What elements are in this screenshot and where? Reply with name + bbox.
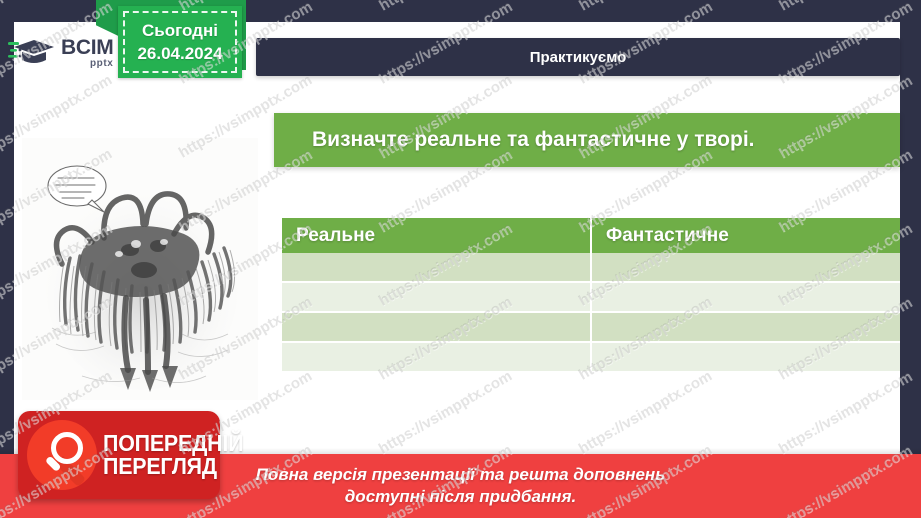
preview-badge-line-2: ПЕРЕГЛЯД: [103, 455, 243, 478]
task-prompt-bar: Визначте реальне та фантастичне у творі.: [274, 113, 900, 167]
brand-name: BCIM: [61, 37, 113, 58]
footer-line-1: Повна версія презентації та решта доповн…: [256, 464, 666, 486]
date-badge-label: Сьогодні: [142, 19, 218, 42]
date-badge: Сьогодні 26.04.2024: [118, 6, 242, 78]
table-row[interactable]: [282, 253, 900, 281]
footer-line-2: доступні після придбання.: [345, 486, 576, 508]
creature-sketch-svg: [22, 138, 258, 400]
table-cell[interactable]: [590, 283, 900, 311]
task-prompt-text: Визначте реальне та фантастичне у творі.: [274, 128, 755, 152]
table-cell[interactable]: [282, 343, 590, 371]
table-header-row: Реальне Фантастичне: [282, 218, 900, 253]
frame-edge-right: [900, 0, 921, 518]
table-row[interactable]: [282, 341, 900, 371]
table-cell[interactable]: [282, 313, 590, 341]
table-cell[interactable]: [282, 253, 590, 281]
preview-badge[interactable]: ПОПЕРЕДНІЙ ПЕРЕГЛЯД: [18, 411, 220, 499]
table-header-cell-real: Реальне: [282, 218, 590, 253]
section-header-bar: Практикуємо: [256, 38, 900, 76]
table-row[interactable]: [282, 311, 900, 341]
frame-edge-left: [0, 0, 14, 518]
preview-badge-label: ПОПЕРЕДНІЙ ПЕРЕГЛЯД: [103, 432, 254, 479]
date-badge-value: 26.04.2024: [137, 42, 222, 65]
section-title: Практикуємо: [530, 49, 627, 66]
preview-badge-line-1: ПОПЕРЕДНІЙ: [103, 432, 243, 455]
table-cell[interactable]: [590, 313, 900, 341]
magnifier-glyph: [27, 420, 97, 490]
graduation-cap-icon: [8, 36, 56, 70]
table-cell[interactable]: [590, 343, 900, 371]
table-cell[interactable]: [282, 283, 590, 311]
creature-sketch-illustration: [22, 138, 258, 400]
table-cell[interactable]: [590, 253, 900, 281]
brand-logo[interactable]: BCIM pptx: [8, 30, 118, 75]
slide-stage: Сьогодні 26.04.2024 BCIM pptx Практ: [0, 0, 921, 518]
brand-logo-text: BCIM pptx: [61, 37, 113, 69]
magnifier-icon: [27, 420, 97, 490]
comparison-table: Реальне Фантастичне: [282, 218, 900, 368]
brand-sub: pptx: [90, 59, 114, 69]
table-row[interactable]: [282, 281, 900, 311]
table-header-cell-fantastic: Фантастичне: [590, 218, 900, 253]
